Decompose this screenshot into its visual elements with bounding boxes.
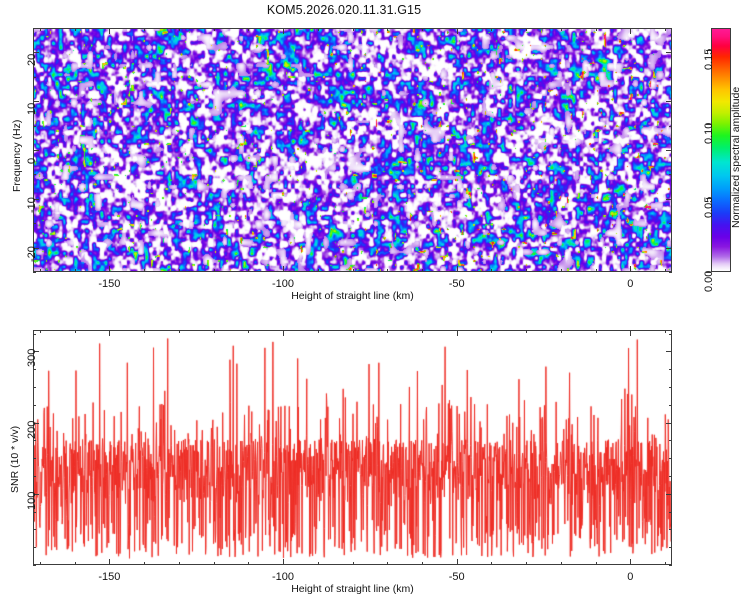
snr-xtick-major-top (457, 330, 458, 336)
snr-xtick-minor-top (561, 330, 562, 333)
snr-xtick-minor (318, 562, 319, 565)
snr-xtick-minor-top (665, 330, 666, 333)
snr-xticklabel: 0 (608, 571, 652, 583)
snr-xtick-minor (561, 562, 562, 565)
spec-xtick-minor-top (422, 28, 423, 31)
spec-ytick-minor (33, 174, 36, 175)
spec-xtick-minor-top (75, 28, 76, 31)
spec-xtick-minor-top (561, 28, 562, 31)
spec-ytick-minor (33, 77, 36, 78)
spec-xtick-minor (596, 269, 597, 272)
spec-xtick-major-top (283, 28, 284, 34)
spec-ytick-minor-right (669, 223, 672, 224)
spec-xtick-minor-top (665, 28, 666, 31)
spec-ytick-major-right (666, 248, 672, 249)
snr-yticklabel: 300 (26, 349, 38, 367)
spec-xtick-minor (387, 269, 388, 272)
figure-root: KOM5.2026.020.11.31.G15 -150-100-500-20-… (0, 0, 750, 600)
snr-ytick-minor-right (669, 547, 672, 548)
snr-xtick-minor-top (422, 330, 423, 333)
spec-xtick-minor-top (596, 28, 597, 31)
spec-yticklabel: 20 (26, 54, 38, 66)
snr-xtick-minor-top (248, 330, 249, 333)
spec-ytick-minor-right (669, 174, 672, 175)
snr-ytick-minor (33, 512, 36, 513)
spectrogram-plot-area (33, 28, 672, 272)
snr-trace (34, 331, 671, 564)
snr-plot-area (33, 330, 672, 565)
spec-ytick-major-right (666, 150, 672, 151)
spec-xticklabel: -150 (87, 278, 131, 290)
snr-panel (33, 330, 672, 565)
spec-xtick-minor (40, 269, 41, 272)
spec-ytick-major-right (666, 101, 672, 102)
spec-xtick-minor-top (40, 28, 41, 31)
snr-ytick-minor (33, 405, 36, 406)
spec-xtick-major-top (109, 28, 110, 34)
snr-ytick-minor-right (669, 512, 672, 513)
snr-xtick-major (109, 559, 110, 565)
spec-xtick-minor (422, 269, 423, 272)
spec-xtick-minor-top (248, 28, 249, 31)
spec-xtick-major-top (457, 28, 458, 34)
spec-xtick-minor (214, 269, 215, 272)
snr-xtick-minor (491, 562, 492, 565)
spec-xtick-major (283, 266, 284, 272)
snr-yaxis-title: SNR (10 * v/v) (9, 425, 21, 492)
snr-xtick-major-top (109, 330, 110, 336)
snr-xtick-minor (40, 562, 41, 565)
spec-xtick-minor (179, 269, 180, 272)
colorbar-ticklabel: 0.10 (703, 123, 715, 144)
spec-yticklabel: 10 (26, 103, 38, 115)
snr-xtick-minor-top (179, 330, 180, 333)
snr-ytick-minor (33, 334, 36, 335)
spec-xtick-minor (491, 269, 492, 272)
snr-xtick-minor-top (318, 330, 319, 333)
spec-xtick-major-top (630, 28, 631, 34)
spec-xtick-minor-top (491, 28, 492, 31)
snr-ytick-minor (33, 529, 36, 530)
snr-xtick-minor-top (40, 330, 41, 333)
spec-xtick-minor-top (387, 28, 388, 31)
snr-xtick-major-top (630, 330, 631, 336)
spec-ytick-major-right (666, 52, 672, 53)
spec-xtick-minor (248, 269, 249, 272)
spectrogram-panel (33, 28, 672, 272)
snr-ytick-major-right (666, 351, 672, 352)
snr-ytick-major-right (666, 494, 672, 495)
spec-xtick-minor-top (144, 28, 145, 31)
snr-xtick-minor-top (214, 330, 215, 333)
spec-ytick-major-right (666, 199, 672, 200)
snr-ytick-minor-right (669, 405, 672, 406)
spec-xtick-major (109, 266, 110, 272)
snr-xtick-minor (353, 562, 354, 565)
snr-ytick-minor-right (669, 529, 672, 530)
snr-ytick-minor-right (669, 440, 672, 441)
spectrogram-image (34, 29, 671, 271)
spec-ytick-major (33, 150, 39, 151)
snr-xtick-minor-top (75, 330, 76, 333)
spec-ytick-minor-right (669, 77, 672, 78)
snr-xtick-minor-top (144, 330, 145, 333)
spec-xtick-minor (561, 269, 562, 272)
snr-xtick-minor (214, 562, 215, 565)
snr-xtick-minor (179, 562, 180, 565)
spec-xtick-major (457, 266, 458, 272)
colorbar-title: Normalized spectral amplitude (730, 87, 742, 228)
snr-xticklabel: -100 (261, 571, 305, 583)
spec-yticklabel: -10 (26, 197, 38, 213)
snr-xtick-minor-top (353, 330, 354, 333)
page-title: KOM5.2026.020.11.31.G15 (0, 3, 688, 17)
snr-xticklabel: -50 (435, 571, 479, 583)
colorbar-ticklabel: 0.15 (703, 49, 715, 70)
spec-xtick-minor (75, 269, 76, 272)
spec-ytick-minor (33, 126, 36, 127)
snr-ytick-minor (33, 440, 36, 441)
snr-xtick-major-top (283, 330, 284, 336)
snr-xtick-minor (144, 562, 145, 565)
spec-ytick-minor-right (669, 272, 672, 273)
spec-yticklabel: 0 (26, 158, 38, 164)
snr-ytick-minor-right (669, 387, 672, 388)
snr-ytick-minor (33, 476, 36, 477)
snr-ytick-minor-right (669, 369, 672, 370)
spec-xtick-minor-top (179, 28, 180, 31)
snr-ytick-minor (33, 387, 36, 388)
snr-xtick-minor (248, 562, 249, 565)
spec-xtick-major (630, 266, 631, 272)
snr-xticklabel: -150 (87, 571, 131, 583)
snr-ytick-minor (33, 565, 36, 566)
spec-xticklabel: -50 (435, 278, 479, 290)
spec-ytick-minor (33, 223, 36, 224)
snr-xtick-minor-top (596, 330, 597, 333)
colorbar-ticklabel: 0.00 (703, 271, 715, 292)
spec-xtick-minor-top (526, 28, 527, 31)
spec-ytick-minor (33, 28, 36, 29)
spec-xtick-minor (318, 269, 319, 272)
snr-ytick-major-right (666, 423, 672, 424)
spec-xtick-minor (526, 269, 527, 272)
spec-xtick-minor (353, 269, 354, 272)
snr-xtick-major (457, 559, 458, 565)
spec-xticklabel: -100 (261, 278, 305, 290)
spec-xaxis-title: Height of straight line (km) (33, 290, 672, 302)
spec-xtick-minor-top (214, 28, 215, 31)
snr-xtick-minor (596, 562, 597, 565)
spec-ytick-minor (33, 272, 36, 273)
snr-xtick-major (283, 559, 284, 565)
snr-ytick-minor-right (669, 334, 672, 335)
snr-xtick-minor-top (526, 330, 527, 333)
spec-xtick-minor-top (318, 28, 319, 31)
spec-xtick-minor (144, 269, 145, 272)
snr-ytick-minor (33, 369, 36, 370)
snr-xaxis-title: Height of straight line (km) (33, 583, 672, 595)
spec-yaxis-title: Frequency (Hz) (11, 120, 23, 192)
snr-xtick-minor (387, 562, 388, 565)
snr-xtick-minor (665, 562, 666, 565)
snr-xtick-minor (526, 562, 527, 565)
spec-xtick-minor (665, 269, 666, 272)
spec-xtick-minor-top (353, 28, 354, 31)
snr-yticklabel: 200 (26, 420, 38, 438)
spec-xticklabel: 0 (608, 278, 652, 290)
snr-xtick-minor-top (491, 330, 492, 333)
snr-xtick-major (630, 559, 631, 565)
snr-ytick-minor-right (669, 458, 672, 459)
spec-ytick-minor-right (669, 28, 672, 29)
spec-yticklabel: -20 (26, 246, 38, 262)
snr-ytick-minor-right (669, 565, 672, 566)
snr-ytick-minor-right (669, 476, 672, 477)
spec-ytick-minor-right (669, 126, 672, 127)
snr-xtick-minor (422, 562, 423, 565)
colorbar-ticklabel: 0.05 (703, 197, 715, 218)
snr-xtick-minor (75, 562, 76, 565)
snr-yticklabel: 100 (26, 491, 38, 509)
snr-xtick-minor-top (387, 330, 388, 333)
snr-ytick-minor (33, 547, 36, 548)
snr-ytick-minor (33, 458, 36, 459)
